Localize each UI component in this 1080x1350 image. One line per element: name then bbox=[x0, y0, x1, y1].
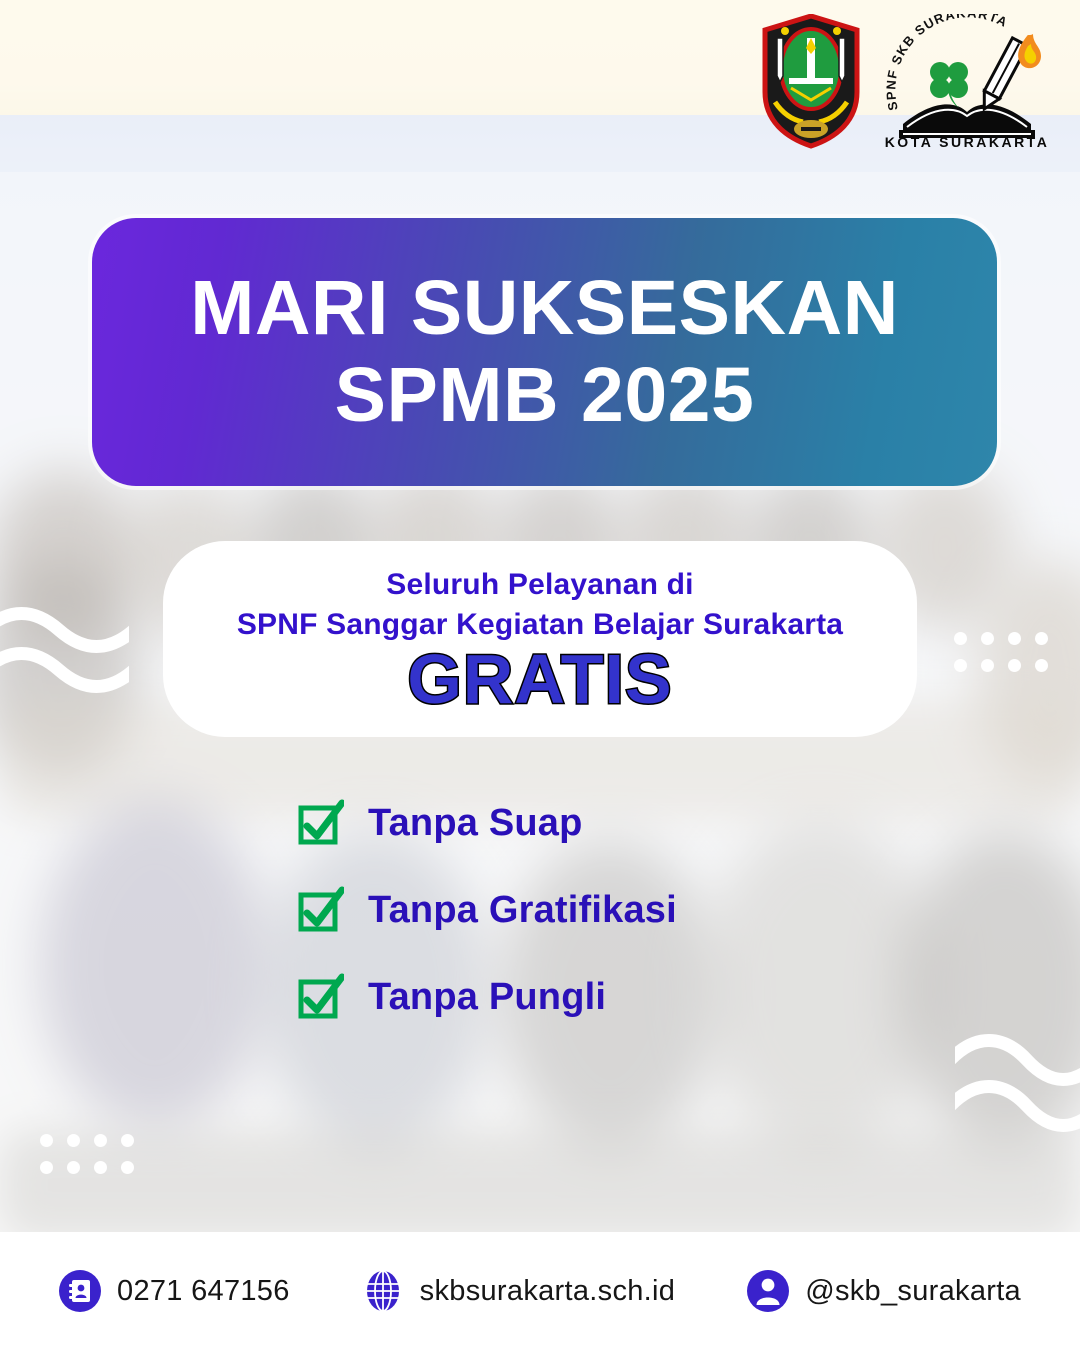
skb-logo-bottom-text: KOTA SURAKARTA bbox=[885, 134, 1049, 149]
card-line1: Seluruh Pelayanan di bbox=[386, 568, 693, 602]
logo-group: SPNF SKB SURAKARTA bbox=[761, 14, 1050, 149]
city-crest-icon bbox=[761, 14, 861, 149]
contact-phone[interactable]: 0271 647156 bbox=[59, 1270, 290, 1312]
wave-decoration-right bbox=[955, 1028, 1080, 1143]
contact-social[interactable]: @skb_surakarta bbox=[747, 1270, 1021, 1312]
card-line2: SPNF Sanggar Kegiatan Belajar Surakarta bbox=[237, 608, 843, 642]
check-square-icon bbox=[296, 886, 344, 934]
banner-title-line2: SPMB 2025 bbox=[335, 356, 755, 435]
poster-canvas: SPNF SKB SURAKARTA bbox=[0, 0, 1080, 1350]
checklist-item-label: Tanpa Suap bbox=[368, 802, 583, 845]
checklist: Tanpa Suap Tanpa Gratifikasi Tanpa Pungl… bbox=[296, 793, 677, 1054]
checklist-item: Tanpa Gratifikasi bbox=[296, 880, 677, 940]
checklist-item-label: Tanpa Pungli bbox=[368, 976, 606, 1019]
globe-icon bbox=[362, 1270, 404, 1312]
contact-book-icon bbox=[59, 1270, 101, 1312]
contact-website-value: skbsurakarta.sch.id bbox=[420, 1275, 676, 1308]
skb-surakarta-logo: SPNF SKB SURAKARTA bbox=[885, 14, 1050, 149]
free-service-card: Seluruh Pelayanan di SPNF Sanggar Kegiat… bbox=[163, 541, 917, 737]
checklist-item-label: Tanpa Gratifikasi bbox=[368, 889, 677, 932]
gratis-headline: GRATIS bbox=[407, 644, 672, 714]
checklist-item: Tanpa Suap bbox=[296, 793, 677, 853]
banner-title-line1: MARI SUKSESKAN bbox=[190, 269, 899, 348]
check-square-icon bbox=[296, 799, 344, 847]
title-banner: MARI SUKSESKAN SPMB 2025 bbox=[92, 218, 997, 486]
contact-phone-value: 0271 647156 bbox=[117, 1275, 290, 1308]
contact-social-value: @skb_surakarta bbox=[805, 1275, 1021, 1308]
contact-website[interactable]: skbsurakarta.sch.id bbox=[362, 1270, 676, 1312]
checklist-item: Tanpa Pungli bbox=[296, 967, 677, 1027]
dot-grid-right bbox=[954, 632, 1048, 672]
user-icon bbox=[747, 1270, 789, 1312]
check-square-icon bbox=[296, 973, 344, 1021]
dot-grid-left bbox=[40, 1134, 134, 1174]
wave-decoration-left bbox=[0, 600, 129, 710]
footer-contact-bar: 0271 647156 skbsurakarta.sch.id bbox=[0, 1232, 1080, 1350]
